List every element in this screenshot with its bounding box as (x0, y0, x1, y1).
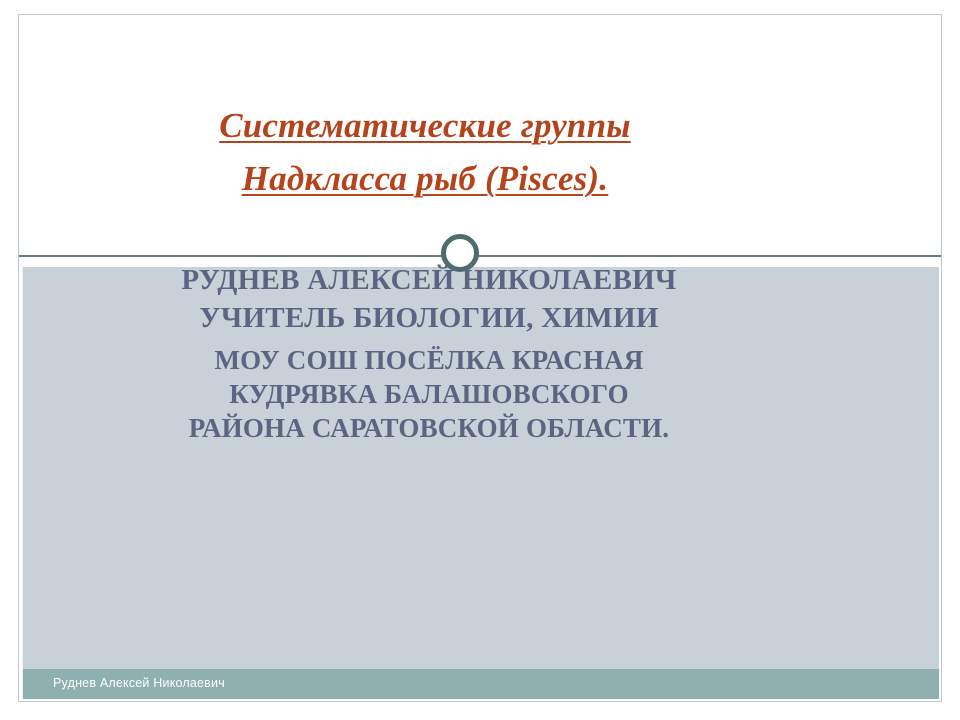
subtitle-line-author: РУДНЕВ АЛЕКСЕЙ НИКОЛАЕВИЧ (59, 261, 799, 299)
slide-title-line-2: Надкласса рыб (Pisces). (75, 152, 775, 205)
subtitle-line-school-3: РАЙОНА САРАТОВСКОЙ ОБЛАСТИ. (59, 411, 799, 445)
footer-author-text: Руднев Алексей Николаевич (53, 676, 225, 690)
horizontal-divider-line (19, 255, 942, 257)
subtitle-line-school-2: КУДРЯВКА БАЛАШОВСКОГО (59, 377, 799, 411)
presentation-slide: Систематические группы Надкласса рыб (Pi… (18, 14, 942, 702)
subtitle-line-school-1: МОУ СОШ ПОСЁЛКА КРАСНАЯ (59, 343, 799, 377)
subtitle-line-role: УЧИТЕЛЬ БИОЛОГИИ, ХИМИИ (59, 299, 799, 337)
slide-title: Систематические группы Надкласса рыб (Pi… (75, 99, 775, 205)
slide-subtitle: РУДНЕВ АЛЕКСЕЙ НИКОЛАЕВИЧ УЧИТЕЛЬ БИОЛОГ… (59, 261, 799, 445)
slide-title-line-1: Систематические группы (75, 99, 775, 152)
